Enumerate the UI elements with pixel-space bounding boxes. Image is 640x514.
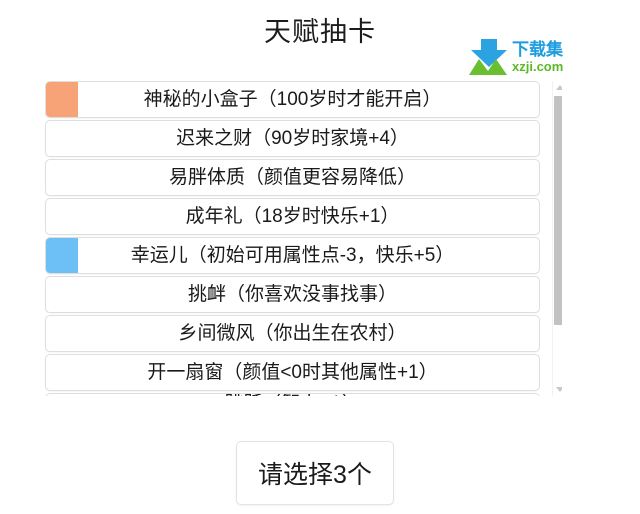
vertical-scrollbar[interactable] (552, 81, 562, 396)
list-item[interactable]: 挑衅（你喜欢没事找事） (45, 276, 540, 313)
list-item[interactable]: 幸运儿（初始可用属性点-3，快乐+5） (45, 237, 540, 274)
selection-swatch (46, 238, 78, 273)
list-item[interactable]: 跳跃（智力+1） (45, 393, 540, 396)
talent-list-panel: 神秘的小盒子（100岁时才能开启） 迟来之财（90岁时家境+4） 易胖体质（颜值… (45, 81, 562, 396)
list-item-label: 成年礼（18岁时快乐+1） (180, 205, 406, 229)
list-item-label: 易胖体质（颜值更容易降低） (163, 166, 422, 190)
scroll-down-icon[interactable] (553, 383, 562, 396)
select-confirm-button[interactable]: 请选择3个 (236, 441, 394, 505)
list-item[interactable]: 乡间微风（你出生在农村） (45, 315, 540, 352)
list-item[interactable]: 成年礼（18岁时快乐+1） (45, 198, 540, 235)
selection-swatch (46, 82, 78, 117)
scrollbar-thumb[interactable] (554, 96, 562, 325)
site-watermark: 下载集 xzji.com (467, 36, 583, 78)
watermark-logo-icon (467, 37, 509, 77)
talent-list[interactable]: 神秘的小盒子（100岁时才能开启） 迟来之财（90岁时家境+4） 易胖体质（颜值… (45, 81, 540, 396)
list-item-label: 幸运儿（初始可用属性点-3，快乐+5） (125, 244, 461, 268)
list-item-label: 乡间微风（你出生在农村） (172, 322, 412, 346)
watermark-text: 下载集 xzji.com (512, 41, 563, 73)
list-item-label: 神秘的小盒子（100岁时才能开启） (138, 88, 448, 112)
list-item-label: 迟来之财（90岁时家境+4） (170, 127, 415, 151)
list-item-label: 挑衅（你喜欢没事找事） (182, 283, 403, 307)
list-item[interactable]: 迟来之财（90岁时家境+4） (45, 120, 540, 157)
list-item[interactable]: 神秘的小盒子（100岁时才能开启） (45, 81, 540, 118)
watermark-cn-label: 下载集 (512, 41, 563, 58)
list-item-label: 跳跃（智力+1） (219, 393, 367, 396)
watermark-en-label: xzji.com (512, 60, 563, 73)
scrollbar-track[interactable] (553, 94, 562, 383)
list-item[interactable]: 开一扇窗（颜值<0时其他属性+1） (45, 354, 540, 391)
list-item-label: 开一扇窗（颜值<0时其他属性+1） (141, 361, 443, 385)
scroll-up-icon[interactable] (553, 81, 562, 94)
list-item[interactable]: 易胖体质（颜值更容易降低） (45, 159, 540, 196)
